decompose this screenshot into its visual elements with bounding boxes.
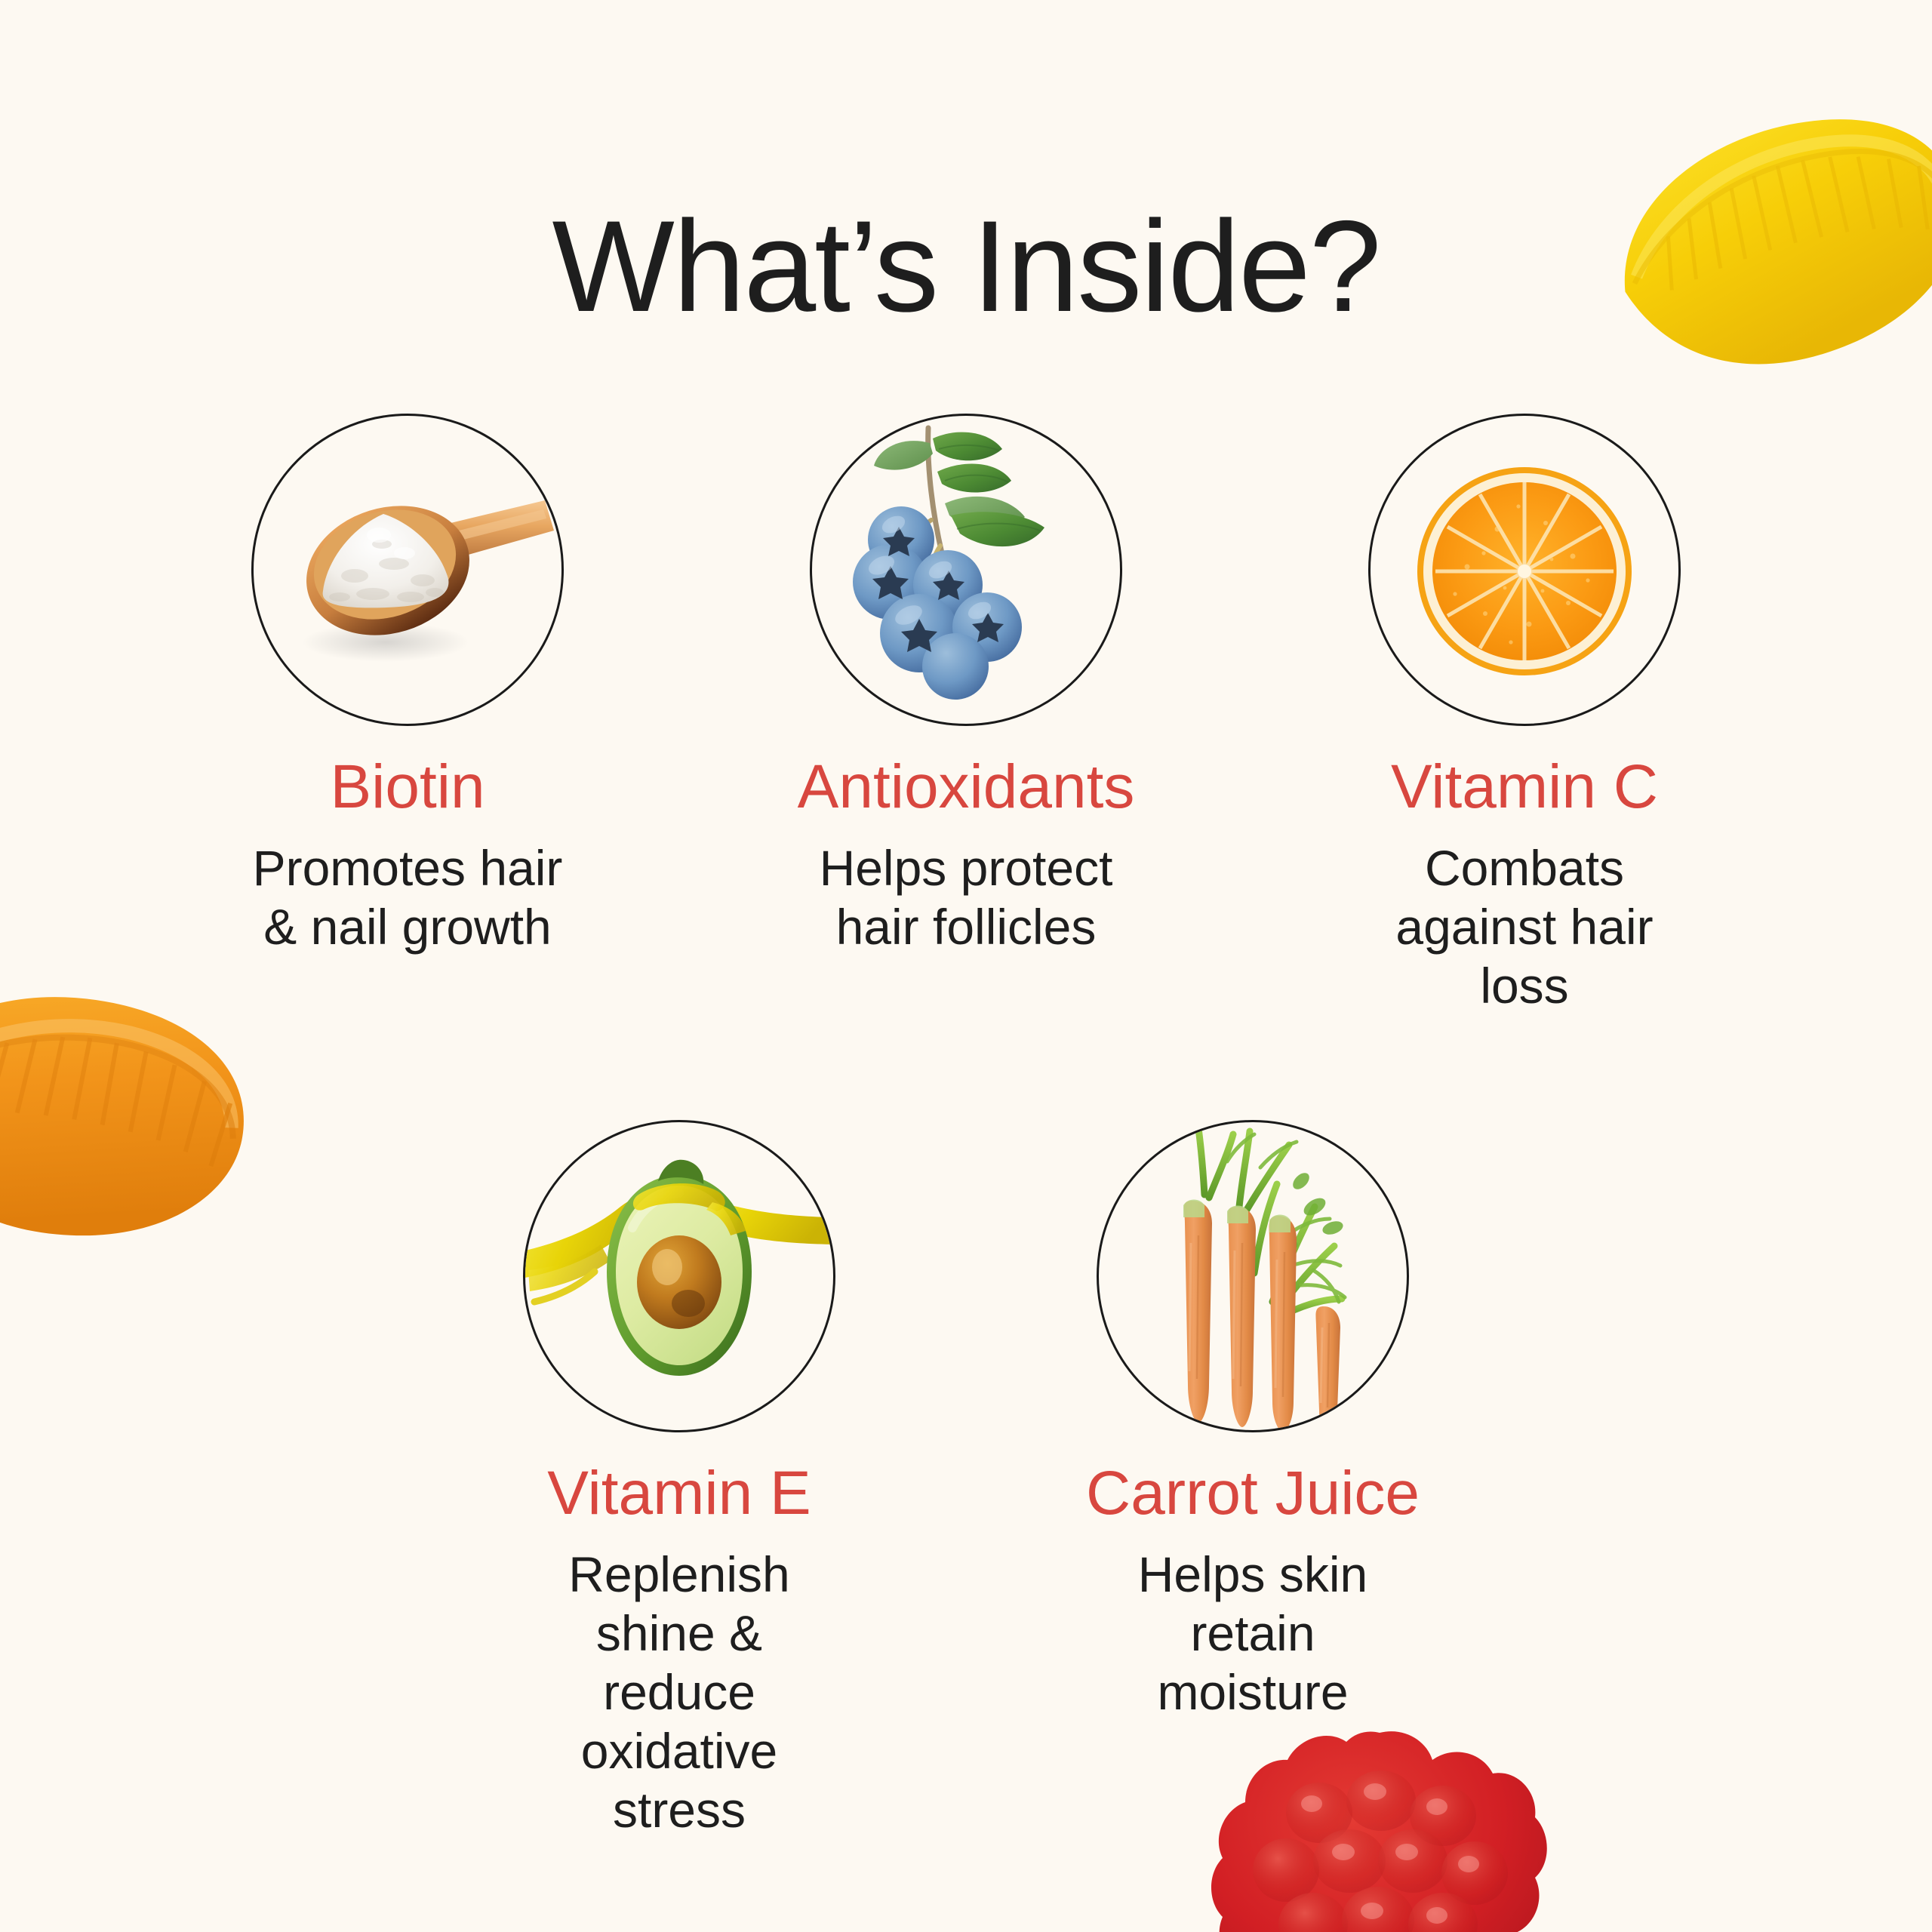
page-title: What’s Inside?	[0, 198, 1932, 335]
ingredient-card-antioxidants[interactable]: Antioxidants Helps protect hair follicle…	[808, 414, 1124, 1016]
ingredient-name: Antioxidants	[798, 756, 1135, 818]
antioxidants-image-circle	[810, 414, 1122, 726]
carrots-icon	[1099, 1122, 1407, 1430]
ingredient-name: Vitamin E	[547, 1463, 811, 1524]
avocado-with-oil-icon	[525, 1122, 833, 1430]
ingredient-card-vitamin-c[interactable]: Vitamin C Combats against hair loss	[1366, 414, 1683, 1016]
ingredient-card-vitamin-e[interactable]: Vitamin E Replenish shine & reduce oxida…	[521, 1120, 838, 1839]
ingredient-description: Helps protect hair follicles	[808, 839, 1124, 957]
whats-inside-infographic: What’s Inside?	[0, 0, 1932, 1932]
ingredient-description: Replenish shine & reduce oxidative stres…	[521, 1546, 838, 1839]
ingredient-card-biotin[interactable]: Biotin Promotes hair & nail growth	[249, 414, 566, 1016]
ingredient-name: Biotin	[330, 756, 485, 818]
vitamin-c-image-circle	[1368, 414, 1681, 726]
orange-slice-icon	[1371, 416, 1678, 724]
blueberries-on-branch-icon	[812, 416, 1120, 724]
vitamin-e-image-circle	[523, 1120, 835, 1432]
ingredient-description: Helps skin retain moisture	[1094, 1546, 1411, 1722]
carrot-juice-image-circle	[1097, 1120, 1409, 1432]
ingredient-name: Vitamin C	[1391, 756, 1658, 818]
ingredient-name: Carrot Juice	[1086, 1463, 1420, 1524]
ingredient-description: Promotes hair & nail growth	[249, 839, 566, 957]
ingredient-card-carrot-juice[interactable]: Carrot Juice Helps skin retain moisture	[1094, 1120, 1411, 1839]
biotin-image-circle	[251, 414, 564, 726]
ingredient-row-2: Vitamin E Replenish shine & reduce oxida…	[0, 1120, 1932, 1839]
ingredient-row-1: Biotin Promotes hair & nail growth	[0, 414, 1932, 1016]
wooden-spoon-with-powder-icon	[254, 416, 561, 724]
ingredient-description: Combats against hair loss	[1366, 839, 1683, 1016]
